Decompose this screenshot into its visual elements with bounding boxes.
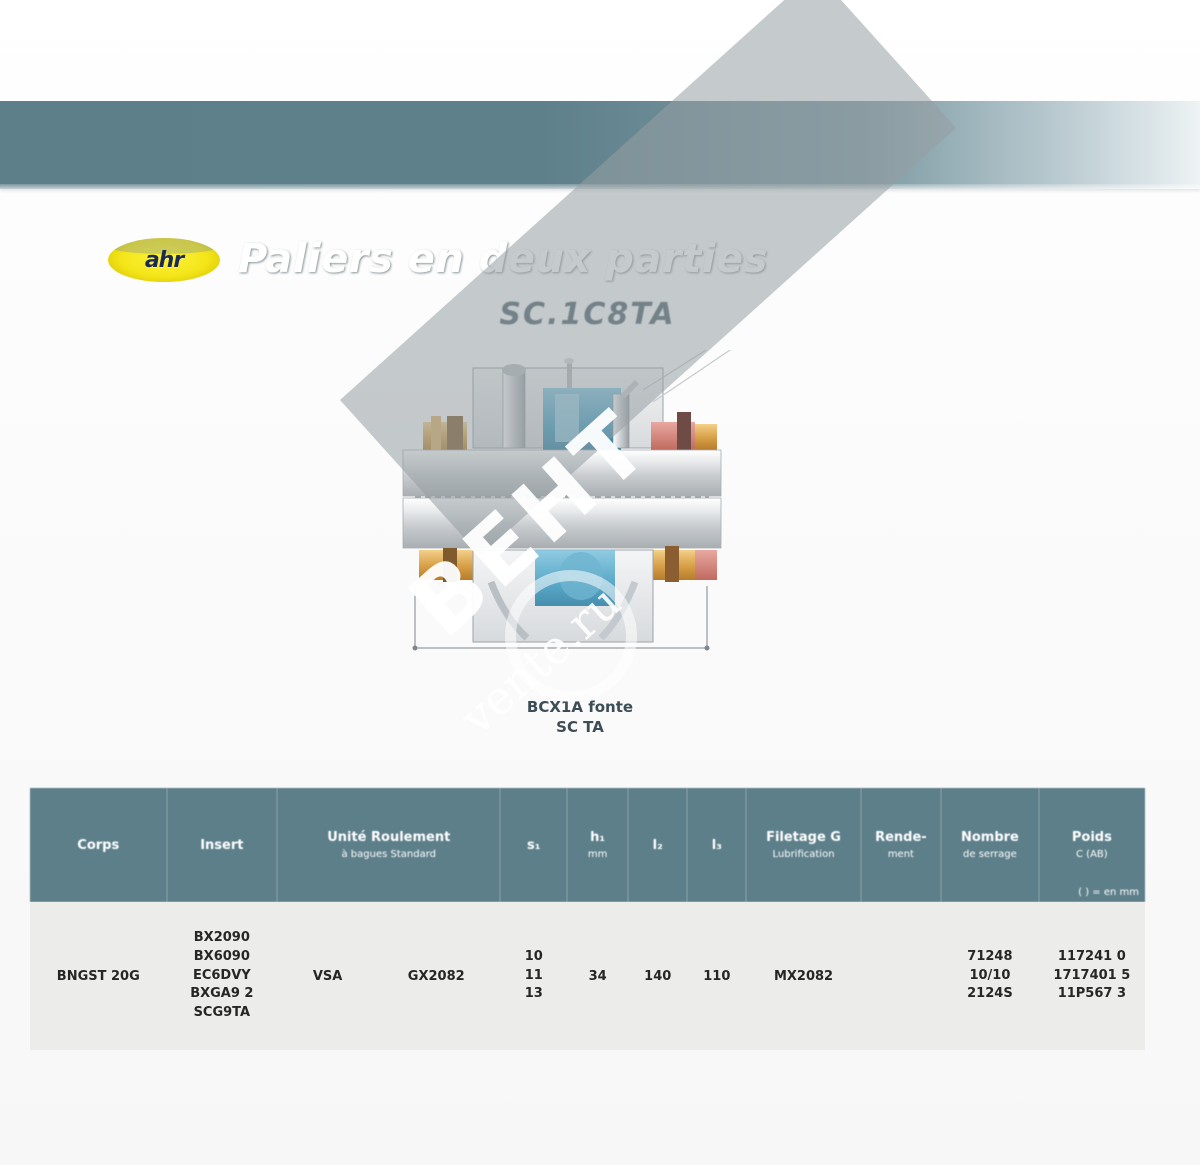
cell-l3: 110: [687, 902, 746, 1050]
nombre-value: 117241 0: [1042, 948, 1142, 967]
spec-table-body: BNGST 20G BX2090 BX6090 EC6DVY BXGA9 2 S…: [30, 902, 1145, 1050]
col-header-s1: s₁: [500, 788, 567, 902]
table-row: BNGST 20G BX2090 BX6090 EC6DVY BXGA9 2 S…: [30, 902, 1145, 1050]
insert-code: BX6090: [170, 948, 275, 967]
cell-filetage: MX2082: [746, 902, 860, 1050]
spec-table-container: Corps Insert Unité Roulement à bagues St…: [30, 788, 1145, 1050]
cell-s1: 10 11 13: [500, 902, 567, 1050]
s1-value: 11: [503, 967, 564, 986]
col-header-insert-label: Insert: [200, 838, 243, 853]
cell-unite-roulement: VSA GX2082: [277, 902, 500, 1050]
page-header-band: ahr Paliers en deux parties: [0, 101, 1200, 189]
cell-rendement: 71248 10/10 2124S: [941, 902, 1039, 1050]
insert-code-list: BX2090 BX6090 EC6DVY BXGA9 2 SCG9TA: [170, 929, 275, 1023]
col-header-l3-label: l₃: [712, 838, 722, 853]
insert-code: EC6DVY: [170, 967, 275, 986]
rendement-value: 10/10: [944, 967, 1036, 986]
col-header-corps-label: Corps: [77, 838, 119, 853]
rendement-value: 2124S: [944, 985, 1036, 1004]
rendement-value-list: 71248 10/10 2124S: [944, 948, 1036, 1005]
nombre-value-list: 117241 0 1717401 5 11P567 3: [1042, 948, 1142, 1005]
col-header-l2: l₂: [628, 788, 687, 902]
cell-corps: BNGST 20G: [30, 902, 167, 1050]
col-header-rendement-label: Rende-: [875, 830, 927, 845]
figure-caption-line1: BCX1A fonte: [527, 698, 633, 716]
col-header-corps: Corps: [30, 788, 167, 902]
col-header-poids: Poids C (AB) ( ) = en mm: [1039, 788, 1145, 902]
col-header-nombre: Nombre de serrage: [941, 788, 1039, 902]
col-header-unite-label: Unité Roulement: [327, 830, 450, 845]
cell-insert: BX2090 BX6090 EC6DVY BXGA9 2 SCG9TA: [167, 902, 278, 1050]
col-header-unite: Unité Roulement à bagues Standard: [277, 788, 500, 902]
logo-text: ahr: [145, 248, 183, 273]
s1-value: 13: [503, 985, 564, 1004]
brand-logo: ahr: [105, 234, 223, 286]
col-header-poids-label: Poids: [1072, 830, 1112, 845]
figure-caption-line2: SC TA: [430, 717, 730, 737]
cell-h1: 34: [567, 902, 628, 1050]
col-header-h1: h₁ mm: [567, 788, 628, 902]
col-header-filetage: Filetage G Lubrification: [746, 788, 860, 902]
col-header-h1-label: h₁: [590, 830, 605, 845]
col-header-rendement-sub: ment: [865, 849, 937, 860]
logo-ellipse: ahr: [108, 238, 220, 282]
cell-l2: 140: [628, 902, 687, 1050]
col-header-l3: l₃: [687, 788, 746, 902]
nombre-value: 11P567 3: [1042, 985, 1142, 1004]
col-header-nombre-sub: de serrage: [945, 849, 1035, 860]
cell-nombre: 117241 0 1717401 5 11P567 3: [1039, 902, 1145, 1050]
spec-table: Corps Insert Unité Roulement à bagues St…: [30, 788, 1145, 1050]
col-header-filetage-sub: Lubrification: [750, 849, 856, 860]
insert-code: BXGA9 2: [170, 985, 275, 1004]
spec-table-header: Corps Insert Unité Roulement à bagues St…: [30, 788, 1145, 902]
col-header-filetage-label: Filetage G: [766, 830, 841, 845]
cell-rendement-blank: [861, 902, 941, 1050]
col-header-s1-label: s₁: [527, 838, 540, 853]
cell-roulement: GX2082: [408, 969, 465, 984]
s1-value-list: 10 11 13: [503, 948, 564, 1005]
col-header-unite-sub: à bagues Standard: [281, 849, 496, 860]
figure-caption: BCX1A fonte SC TA: [430, 697, 730, 738]
col-header-insert: Insert: [167, 788, 278, 902]
col-header-l2-label: l₂: [653, 838, 663, 853]
col-header-poids-sub: C (AB): [1043, 849, 1141, 860]
document-page: ahr Paliers en deux parties SC.1C8TA: [0, 0, 1200, 1165]
cell-unite: VSA: [313, 969, 343, 984]
split-bearing-cutaway-drawing: [395, 350, 735, 680]
page-title: Paliers en deux parties: [238, 236, 768, 282]
insert-code: BX2090: [170, 929, 275, 948]
rendement-value: 71248: [944, 948, 1036, 967]
s1-value: 10: [503, 948, 564, 967]
col-header-h1-sub: mm: [571, 849, 624, 860]
header-row: Corps Insert Unité Roulement à bagues St…: [30, 788, 1145, 902]
insert-code: SCG9TA: [170, 1004, 275, 1023]
col-header-nombre-label: Nombre: [961, 830, 1019, 845]
col-header-poids-note: ( ) = en mm: [1078, 887, 1139, 898]
figure-title: SC.1C8TA: [0, 297, 1175, 332]
col-header-rendement: Rende- ment: [861, 788, 941, 902]
nombre-value: 1717401 5: [1042, 967, 1142, 986]
